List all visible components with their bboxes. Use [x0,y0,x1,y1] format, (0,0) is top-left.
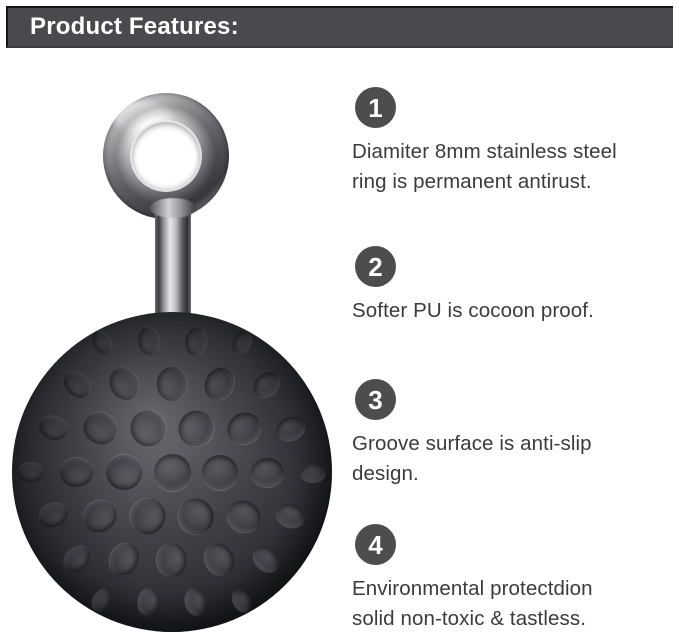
ball-dimple [124,404,172,452]
ball-dimple [157,367,187,401]
ball-dimple [89,586,116,615]
ring-stem-shank [155,206,191,326]
feature-item-4: 4 Environmental protectdion solid non-to… [352,524,679,634]
ball-dimple [89,329,116,358]
ball-dimple [172,492,220,540]
ball-dimple [78,494,123,538]
ball-dimple [199,538,239,580]
ball-dimple [60,367,96,403]
ball-dimple [300,463,326,482]
ball-dimple [124,492,172,540]
ball-dimple [248,367,284,403]
ball-dimple [36,500,71,531]
page-title: Product Features: [30,13,239,41]
ball-dimple [104,538,144,580]
ball-dimple [229,329,256,358]
feature-item-1: 1 Diamiter 8mm stainless steel ring is p… [352,87,679,197]
ball-dimple [106,455,142,490]
product-illustration [0,48,340,636]
ball-dimple [248,541,284,577]
ball-dimple [251,458,284,487]
feature-item-3: 3 Groove surface is anti-slip design. [352,379,679,489]
stem-collar [150,198,196,218]
dimpled-ball [12,312,332,632]
ball-dimple-grid [12,312,332,632]
header-bar: Product Features: [6,6,673,48]
ball-dimple [60,541,96,577]
ball-dimple [135,326,161,357]
ball-dimple [157,543,187,577]
ball-dimple [60,458,93,487]
ball-dimple [183,326,209,357]
ball-dimple [172,404,220,452]
ball-dimple [18,463,44,482]
ball-dimple [135,586,161,617]
ball-dimple [199,363,239,405]
ball-dimple [273,413,308,444]
ball-dimple [36,413,71,444]
ball-dimple [273,500,308,531]
feature-number-badge-2: 2 [355,246,396,287]
feature-item-2: 2 Softer PU is cocoon proof. [352,246,679,326]
ball-dimple [78,406,123,450]
feature-number-badge-3: 3 [355,379,396,420]
ball-dimple [154,454,191,491]
ball-dimple [229,586,256,615]
ball-dimple [104,363,144,405]
ball-dimple [183,586,209,617]
ball-dimple [221,494,266,538]
feature-text-4: Environmental protectdion solid non-toxi… [352,574,679,634]
ball-dimple [202,455,238,490]
feature-list: 1 Diamiter 8mm stainless steel ring is p… [352,48,679,636]
feature-text-1: Diamiter 8mm stainless steel ring is per… [352,137,679,197]
feature-text-2: Softer PU is cocoon proof. [352,296,679,326]
feature-number-badge-1: 1 [355,87,396,128]
feature-number-badge-4: 4 [355,524,396,565]
ring-inner-hole [132,122,200,190]
ball-dimple [221,406,266,450]
feature-text-3: Groove surface is anti-slip design. [352,429,679,489]
